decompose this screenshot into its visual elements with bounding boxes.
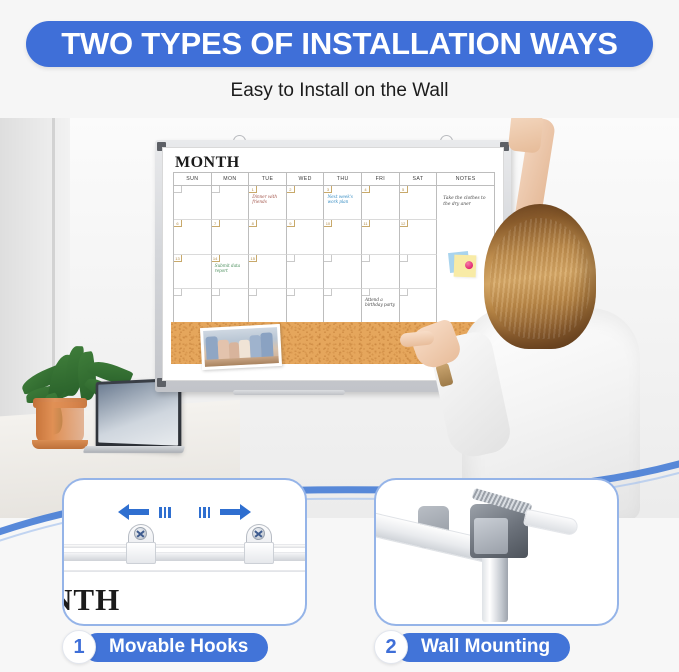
photo-image xyxy=(203,327,279,367)
calendar-entry-note: Dinner with friends xyxy=(252,195,284,206)
calendar-cell: 6 xyxy=(174,220,212,254)
calendar-day-number: 5 xyxy=(400,186,408,193)
calendar-day-number: 14 xyxy=(212,255,220,262)
pinned-photo xyxy=(200,324,282,370)
calendar-cell xyxy=(287,255,325,289)
arrow-right-icon xyxy=(219,502,253,522)
wall-plug-anchor xyxy=(523,509,579,537)
calendar-entry-note: Attend a birthday party xyxy=(365,298,397,309)
calendar-cell: 11 xyxy=(362,220,400,254)
screw-icon xyxy=(252,527,265,540)
pen-tray xyxy=(233,390,345,395)
calendar-day-number: 2 xyxy=(287,186,295,193)
calendar-entry-note: Submit data report xyxy=(215,264,247,275)
page-title: TWO TYPES OF INSTALLATION WAYS xyxy=(61,26,618,62)
calendar-day-number xyxy=(400,289,408,296)
calendar-cell: 1 Dinner with friends xyxy=(249,186,287,220)
calendar-cell xyxy=(174,289,212,323)
calendar-cell: 2 xyxy=(287,186,325,220)
calendar-cell xyxy=(212,186,250,220)
arrow-left-icon xyxy=(116,502,150,522)
calendar-day-number: 3 xyxy=(324,186,332,193)
calendar-day-number xyxy=(362,289,370,296)
panel-movable-hooks: NTH xyxy=(62,478,307,626)
calendar-cell: Attend a birthday party xyxy=(362,289,400,323)
calendar-day-number xyxy=(212,186,220,193)
movable-hook xyxy=(242,524,276,564)
raised-hand xyxy=(508,118,544,154)
header-banner: TWO TYPES OF INSTALLATION WAYS Easy to I… xyxy=(0,0,679,128)
calendar-cell: 9 xyxy=(287,220,325,254)
calendar-day-number xyxy=(362,255,370,262)
calendar-day-number: 8 xyxy=(249,220,257,227)
calendar-cell: 13 xyxy=(174,255,212,289)
calendar-day-number: 11 xyxy=(362,220,370,227)
page-title-badge: TWO TYPES OF INSTALLATION WAYS xyxy=(26,21,653,67)
calendar-day-number: 7 xyxy=(212,220,220,227)
dash-marks-left xyxy=(159,507,171,518)
calendar-entry-note: Next week's work plan xyxy=(327,195,359,206)
label-wall-mounting: 2 Wall Mounting xyxy=(374,630,570,664)
calendar-day-number: 13 xyxy=(174,255,182,262)
calendar-cell: 14 Submit data report xyxy=(212,255,250,289)
step-label-text: Movable Hooks xyxy=(83,633,268,662)
calendar-day-number xyxy=(174,186,182,193)
calendar-cell xyxy=(287,289,325,323)
calendar-cell: 3 Next week's work plan xyxy=(324,186,362,220)
calendar-day-number xyxy=(324,289,332,296)
movable-hook xyxy=(124,524,158,564)
board-watermark-text: NTH xyxy=(62,582,120,618)
calendar-cell: 7 xyxy=(212,220,250,254)
calendar-cell xyxy=(249,289,287,323)
calendar-day-number: 15 xyxy=(249,255,257,262)
calendar-day-header: FRI xyxy=(362,173,400,185)
calendar-day-header: SUN xyxy=(174,173,212,185)
rail-line xyxy=(62,570,307,572)
calendar-day-number xyxy=(174,289,182,296)
calendar-day-number: 4 xyxy=(362,186,370,193)
calendar-cell: 10 xyxy=(324,220,362,254)
dash-marks-right xyxy=(199,507,211,518)
label-movable-hooks: 1 Movable Hooks xyxy=(62,630,268,664)
calendar-day-number xyxy=(400,255,408,262)
calendar-day-number xyxy=(324,255,332,262)
step-number-badge: 2 xyxy=(374,630,408,664)
calendar-cell: 15 xyxy=(249,255,287,289)
calendar-cell xyxy=(324,255,362,289)
panel-wall-mounting xyxy=(374,478,619,626)
page-subtitle: Easy to Install on the Wall xyxy=(0,80,679,102)
step-label-text: Wall Mounting xyxy=(395,633,570,662)
calendar-cell: 4 xyxy=(362,186,400,220)
calendar-cell xyxy=(362,255,400,289)
calendar-day-header: TUE xyxy=(249,173,287,185)
calendar-day-number xyxy=(249,289,257,296)
hook-rail-assembly xyxy=(62,538,307,578)
calendar-day-number: 1 xyxy=(249,186,257,193)
calendar-day-number: 6 xyxy=(174,220,182,227)
hook-slider-block xyxy=(244,542,274,564)
hair xyxy=(484,204,596,349)
calendar-cell xyxy=(324,289,362,323)
bracket-face xyxy=(474,518,508,554)
screw-icon xyxy=(134,527,147,540)
step-number-badge: 1 xyxy=(62,630,96,664)
calendar-day-number xyxy=(287,289,295,296)
calendar-day-header: MON xyxy=(212,173,250,185)
hook-slider-block xyxy=(126,542,156,564)
calendar-day-header: THU xyxy=(324,173,362,185)
calendar-day-number: 12 xyxy=(400,220,408,227)
calendar-day-number xyxy=(287,255,295,262)
calendar-cell xyxy=(174,186,212,220)
calendar-cell: 8 xyxy=(249,220,287,254)
hook-direction-arrows xyxy=(64,502,305,522)
calendar-day-header: WED xyxy=(287,173,325,185)
calendar-cell xyxy=(212,289,250,323)
calendar-day-number: 10 xyxy=(324,220,332,227)
plant-pot xyxy=(36,402,84,444)
calendar-day-number xyxy=(212,289,220,296)
calendar-day-number: 9 xyxy=(287,220,295,227)
